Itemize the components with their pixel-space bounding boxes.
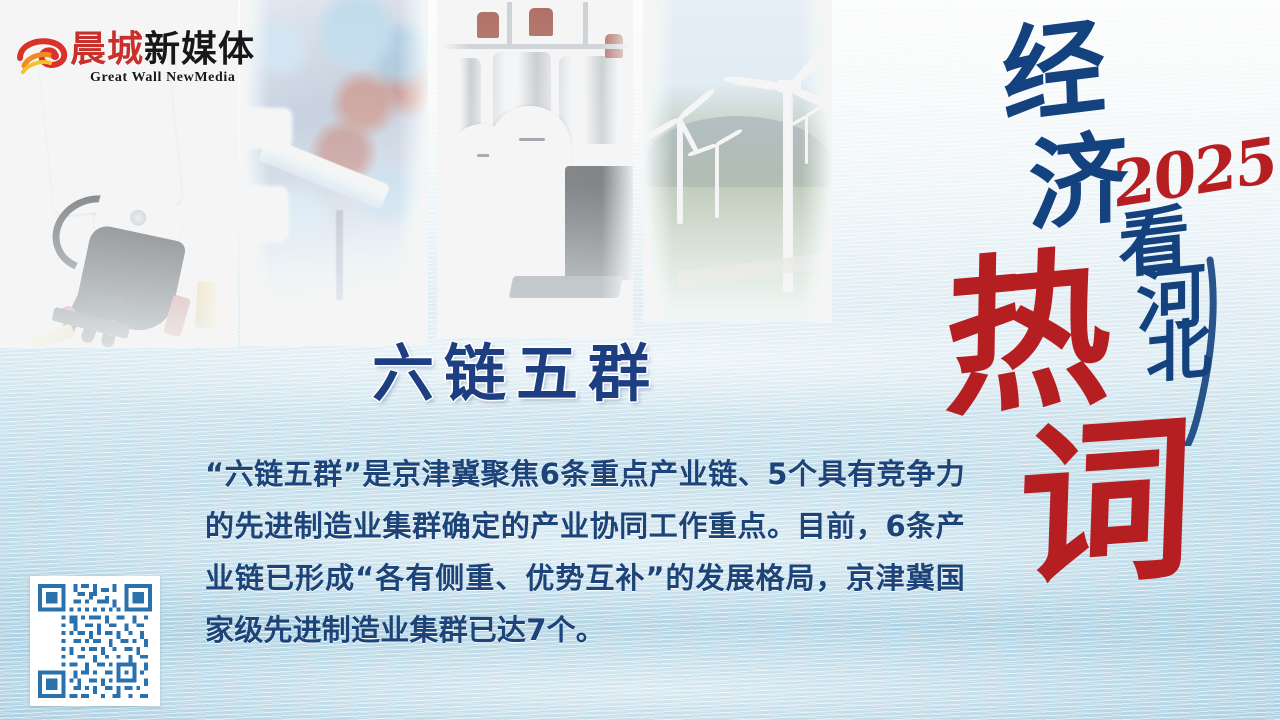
- calligraphy-char-jing: 经: [1001, 13, 1108, 130]
- wind-farm-photo: [643, 0, 832, 322]
- brand-name-cn: 晨城新媒体: [70, 30, 255, 70]
- swirl-logo-icon: [14, 36, 72, 78]
- brand-name-cn-red: 晨城: [70, 29, 144, 70]
- cleanroom-workers-photo: [437, 0, 633, 338]
- brand-logo[interactable]: 晨城新媒体 Great Wall NewMedia: [14, 30, 232, 86]
- brush-stroke-tail-icon: [1170, 256, 1230, 446]
- page-title: 六链五群: [372, 336, 717, 414]
- calligraphy-block: 经 济 2025 看 河 北 热 词: [940, 6, 1280, 666]
- qr-code[interactable]: [30, 576, 160, 706]
- strip2-edge-fade: [240, 0, 428, 346]
- brand-name-en: Great Wall NewMedia: [90, 70, 235, 86]
- qr-code-image: [38, 584, 152, 698]
- calligraphy-char-re: 热: [943, 242, 1113, 426]
- poster-canvas: 晨城新媒体 Great Wall NewMedia 六链五群 “六链五群”是京津…: [0, 0, 1280, 720]
- electronics-bokeh-photo: [240, 0, 428, 346]
- strip3-edge-fade: [437, 0, 633, 338]
- brand-name-cn-black: 新媒体: [144, 29, 255, 70]
- body-paragraph: “六链五群”是京津冀聚焦6条重点产业链、5个具有竞争力的先进制造业集群确定的产业…: [205, 448, 965, 656]
- strip4-edge-fade: [643, 0, 832, 322]
